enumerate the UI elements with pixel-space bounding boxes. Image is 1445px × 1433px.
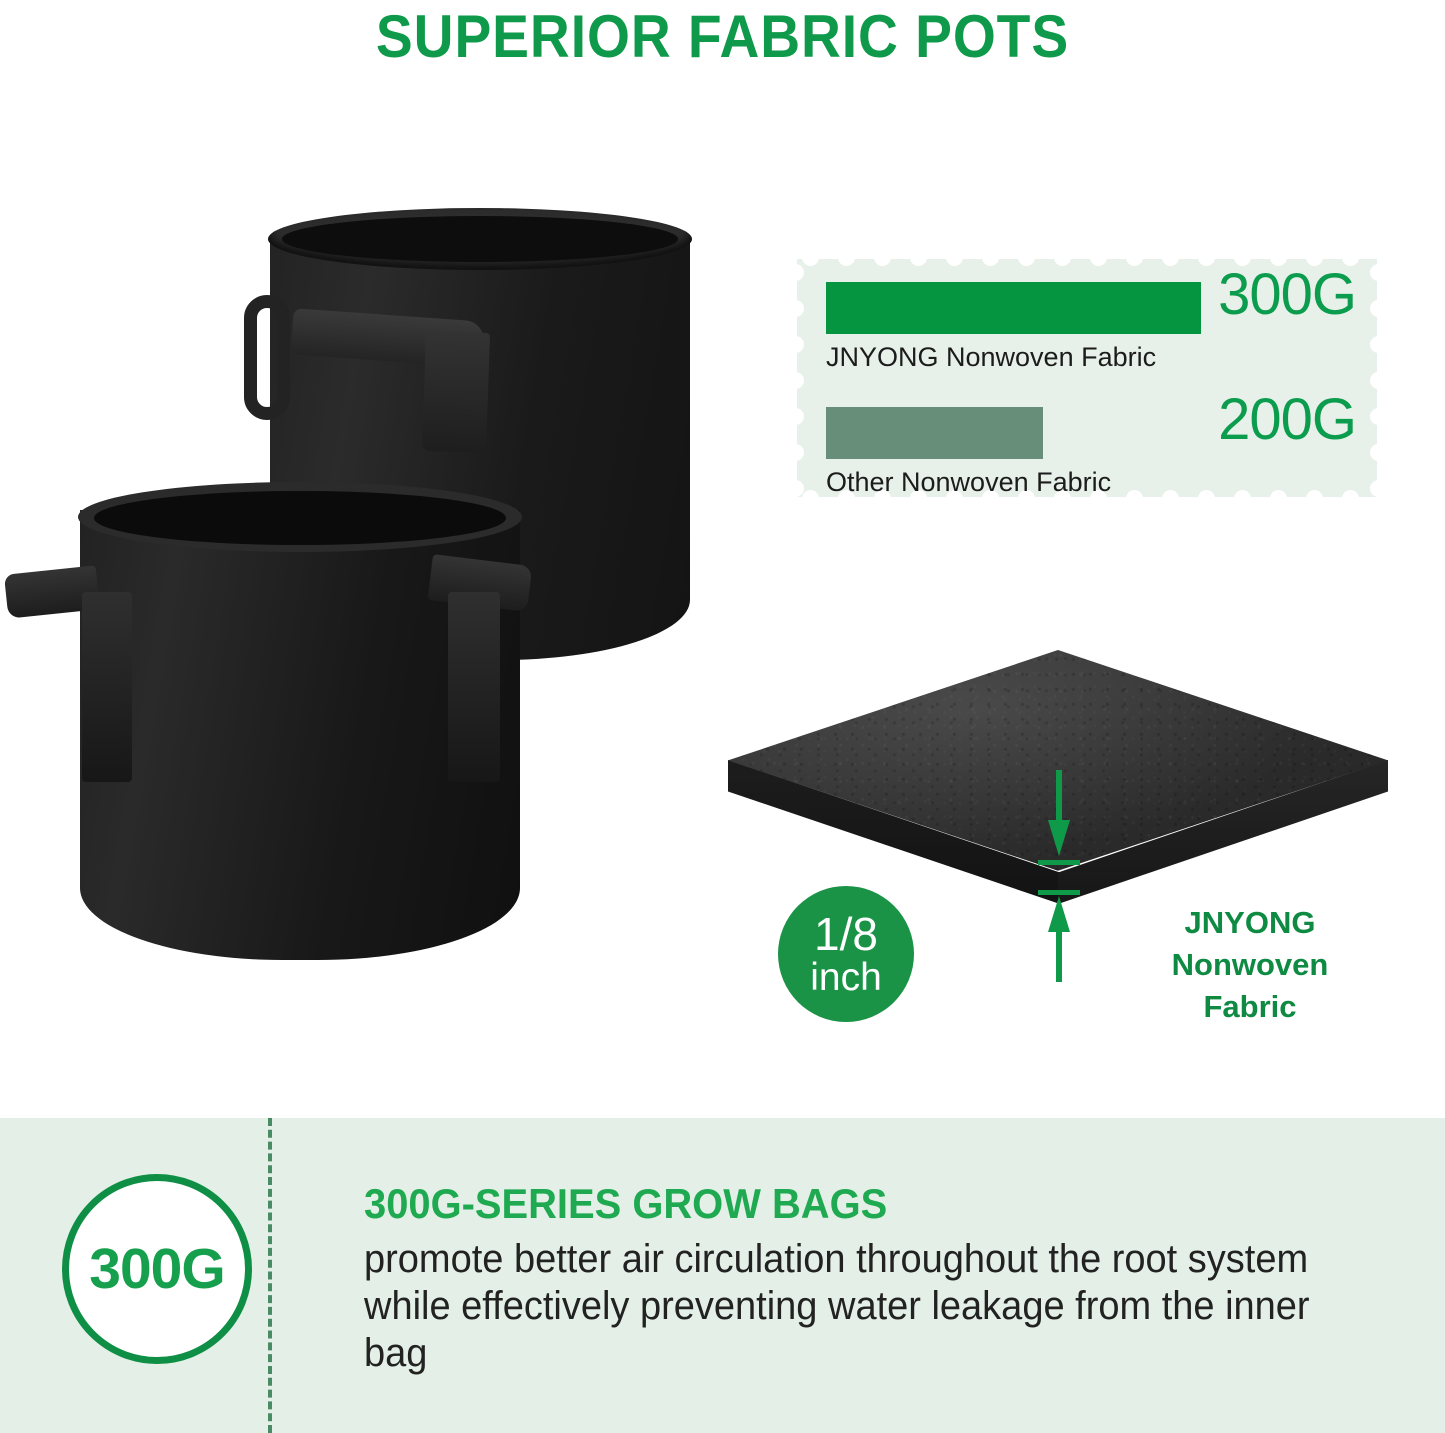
thickness-badge: 1/8 inch xyxy=(778,886,914,1022)
stamp-notch xyxy=(1370,300,1387,317)
stamp-notch xyxy=(1018,249,1035,266)
bar-label-other: Other Nonwoven Fabric xyxy=(826,468,1356,498)
stamp-notch xyxy=(787,336,804,353)
fabric-caption-line-3: Fabric xyxy=(1100,986,1400,1028)
bar-label-jnyong: JNYONG Nonwoven Fabric xyxy=(826,343,1356,373)
stamp-notch xyxy=(910,249,927,266)
stamp-notch xyxy=(802,249,819,266)
infographic-page: SUPERIOR FABRIC POTS 300G JNYONG Nonwove… xyxy=(0,0,1445,1433)
stamp-notch xyxy=(787,408,804,425)
feature-body-text: promote better air circulation throughou… xyxy=(364,1236,1324,1376)
fabric-caption-line-2: Nonwoven xyxy=(1100,944,1400,986)
bar-value-other: 200G xyxy=(1218,391,1356,449)
weight-badge-label: 300G xyxy=(89,1236,224,1302)
stamp-notch xyxy=(1370,480,1387,497)
bar-other xyxy=(826,407,1043,459)
fabric-caption-line-1: JNYONG xyxy=(1100,902,1400,944)
stamp-notch xyxy=(1162,249,1179,266)
stamp-notch xyxy=(1370,336,1387,353)
stamp-notch xyxy=(787,480,804,497)
fabric-weight-comparison-chart: 300G JNYONG Nonwoven Fabric 200G Other N… xyxy=(788,250,1386,506)
fabric-caption: JNYONG Nonwoven Fabric xyxy=(1100,902,1400,1028)
stamp-notch xyxy=(982,249,999,266)
stamp-notch xyxy=(1370,264,1387,281)
stamp-notch xyxy=(1126,249,1143,266)
grow-pot-back-handle-tab xyxy=(422,331,490,453)
fabric-thickness-diagram: JNYONG Nonwoven Fabric xyxy=(700,640,1420,1100)
stamp-notch xyxy=(802,490,819,507)
grow-pot-front-interior xyxy=(94,491,506,545)
bar-value-jnyong: 300G xyxy=(1218,266,1356,324)
stamp-notch xyxy=(1370,408,1387,425)
thickness-tick-top xyxy=(1038,860,1080,865)
product-photo-grow-pots xyxy=(0,200,730,1030)
thickness-badge-fraction: 1/8 xyxy=(814,911,878,958)
grow-pot-back-interior xyxy=(282,216,678,262)
bar-jnyong xyxy=(826,282,1201,334)
grow-pot-front-handle-left-tab xyxy=(82,592,132,782)
bar-row-other: 200G xyxy=(826,407,1356,459)
weight-badge-300g: 300G xyxy=(62,1174,252,1364)
bar-row-jnyong: 300G xyxy=(826,282,1356,334)
page-title: SUPERIOR FABRIC POTS xyxy=(58,2,1387,71)
stamp-notch xyxy=(787,444,804,461)
grow-pot-back-handle-loop xyxy=(244,295,290,420)
grow-pot-front-handle-right-tab xyxy=(448,592,500,782)
feature-heading: 300G-SERIES GROW BAGS xyxy=(364,1180,887,1228)
stamp-notch xyxy=(787,300,804,317)
stamp-notch xyxy=(874,249,891,266)
thickness-tick-bottom xyxy=(1038,890,1080,895)
panel-divider xyxy=(268,1118,272,1433)
thickness-badge-unit: inch xyxy=(810,958,882,998)
stamp-notch xyxy=(838,249,855,266)
stamp-notch xyxy=(1370,444,1387,461)
stamp-notch xyxy=(787,372,804,389)
stamp-notch xyxy=(1090,249,1107,266)
arrow-up-icon xyxy=(1048,896,1070,982)
stamp-notch xyxy=(1198,249,1215,266)
stamp-notch xyxy=(1054,249,1071,266)
bar-chart-bars: 300G JNYONG Nonwoven Fabric 200G Other N… xyxy=(826,282,1356,497)
stamp-notch xyxy=(946,249,963,266)
stamp-notch xyxy=(787,264,804,281)
stamp-notch xyxy=(1370,372,1387,389)
arrow-down-icon xyxy=(1048,770,1070,856)
